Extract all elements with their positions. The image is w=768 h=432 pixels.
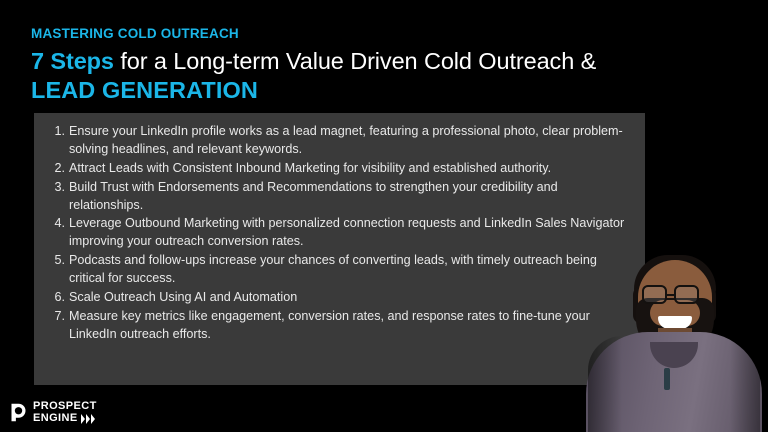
list-item: 4. Leverage Outbound Marketing with pers… [52, 215, 629, 251]
list-item-text: Leverage Outbound Marketing with persona… [67, 215, 629, 251]
list-item-number: 6. [52, 289, 67, 307]
title-line-2: LEAD GENERATION [31, 76, 731, 106]
logo-wordmark: PROSPECT ENGINE [33, 401, 97, 424]
list-item-number: 4. [52, 215, 67, 233]
slide-canvas: MASTERING COLD OUTREACH 7 Steps for a Lo… [0, 0, 768, 432]
neck-shape [658, 328, 692, 354]
logo-line-2: ENGINE [33, 413, 78, 424]
prospect-engine-p-icon [8, 402, 29, 423]
head-shape [638, 260, 712, 352]
list-item-number: 5. [52, 252, 67, 270]
title-accent: 7 Steps [31, 48, 114, 74]
page-title: 7 Steps for a Long-term Value Driven Col… [31, 47, 731, 106]
title-rest: for a Long-term Value Driven Cold Outrea… [114, 48, 596, 74]
glasses-left-lens [642, 285, 667, 304]
eyebrow-label: MASTERING COLD OUTREACH [31, 26, 731, 42]
steps-list: 1. Ensure your LinkedIn profile works as… [34, 113, 645, 344]
list-item: 6. Scale Outreach Using AI and Automatio… [52, 289, 629, 307]
list-item: 5. Podcasts and follow-ups increase your… [52, 252, 629, 288]
list-item-number: 3. [52, 179, 67, 197]
list-item-text: Attract Leads with Consistent Inbound Ma… [67, 160, 629, 178]
shirt-collar [650, 342, 698, 368]
list-item-text: Podcasts and follow-ups increase your ch… [67, 252, 629, 288]
lanyard-clip [664, 368, 670, 390]
list-item-text: Measure key metrics like engagement, con… [67, 308, 629, 344]
list-item: 7. Measure key metrics like engagement, … [52, 308, 629, 344]
hair-side-right [702, 286, 716, 324]
beard-shape [636, 298, 714, 358]
smile-shape [658, 316, 692, 329]
list-item: 3. Build Trust with Endorsements and Rec… [52, 179, 629, 215]
chevrons-icon [81, 414, 95, 424]
content-panel: 1. Ensure your LinkedIn profile works as… [34, 113, 645, 385]
hair-shape [634, 255, 716, 299]
glasses-right-lens [674, 285, 699, 304]
glasses-bridge [667, 294, 674, 296]
face-lower-shape [650, 300, 700, 326]
list-item-number: 1. [52, 123, 67, 141]
logo-line-2-wrap: ENGINE [33, 413, 97, 424]
list-item-text: Build Trust with Endorsements and Recomm… [67, 179, 629, 215]
list-item: 1. Ensure your LinkedIn profile works as… [52, 123, 629, 159]
list-item-number: 7. [52, 308, 67, 326]
shirt-shadow-right [730, 336, 760, 432]
slide-header: MASTERING COLD OUTREACH 7 Steps for a Lo… [31, 26, 731, 106]
list-item-text: Ensure your LinkedIn profile works as a … [67, 123, 629, 159]
list-item: 2. Attract Leads with Consistent Inbound… [52, 160, 629, 178]
list-item-text: Scale Outreach Using AI and Automation [67, 289, 629, 307]
logo-line-1: PROSPECT [33, 401, 97, 412]
brand-logo: PROSPECT ENGINE [8, 401, 97, 424]
list-item-number: 2. [52, 160, 67, 178]
